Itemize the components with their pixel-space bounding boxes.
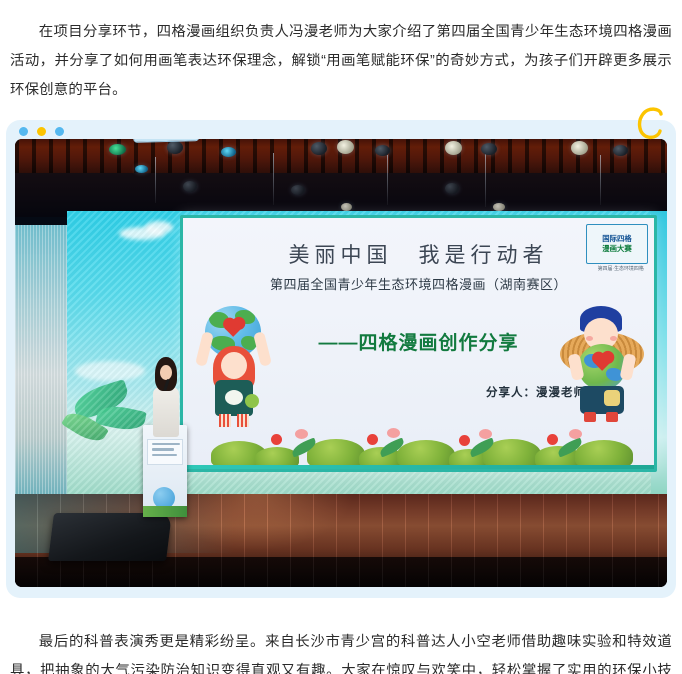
- cloud-graphic: [119, 227, 165, 240]
- stage-light-icon: [445, 141, 462, 155]
- boy-with-globe-illustration: [556, 296, 648, 431]
- stage-light-icon: [481, 143, 497, 155]
- shoe: [584, 412, 596, 422]
- image-card-wrapper: 国际四格 漫画大赛 第四届·生态环境四格 美丽中国 我是行动者 第四届全国青少年…: [6, 120, 676, 598]
- dress-pocket: [225, 390, 243, 405]
- sock: [237, 414, 249, 427]
- slide-title: 美丽中国 我是行动者: [183, 239, 654, 269]
- stage-light-icon: [613, 145, 628, 156]
- slide-baseline: [183, 465, 654, 469]
- speaker-body: [153, 387, 179, 437]
- image-card: 国际四格 漫画大赛 第四届·生态环境四格 美丽中国 我是行动者 第四届全国青少年…: [6, 120, 676, 598]
- rig-line: [600, 155, 601, 205]
- stage-light-icon: [341, 203, 352, 211]
- leaf-graphic: [70, 379, 131, 421]
- stage-light-icon: [135, 165, 148, 173]
- stage-light-icon: [493, 203, 505, 211]
- stage-light-icon: [109, 144, 126, 155]
- leaf-graphic: [95, 402, 147, 433]
- stage-light-icon: [375, 145, 390, 156]
- left-led-panel: [15, 225, 67, 497]
- podium-sign: [147, 439, 183, 465]
- shoe: [606, 412, 618, 422]
- leaf-graphic: [61, 407, 109, 447]
- shorts-patch: [604, 390, 620, 406]
- speaker-person: [147, 357, 185, 435]
- rig-line: [485, 153, 486, 207]
- dot-yellow-icon[interactable]: [37, 127, 46, 136]
- arm: [253, 331, 272, 367]
- sock: [219, 414, 231, 427]
- stage-light-icon: [571, 141, 588, 155]
- article-paragraph-bottom: 最后的科普表演秀更是精彩纷呈。来自长沙市青少宫的科普达人小空老师借助趣味实验和特…: [0, 612, 682, 674]
- speaker-face: [160, 365, 172, 380]
- girl-with-globe-illustration: [191, 306, 283, 431]
- stage-light-icon: [311, 142, 327, 155]
- article-paragraph-top: 在项目分享环节，四格漫画组织负责人冯漫老师为大家介绍了第四届全国青少年生态环境四…: [0, 14, 682, 105]
- podium-grass-graphic: [143, 506, 187, 517]
- rig-line: [273, 153, 274, 205]
- dot-blue-right-icon[interactable]: [55, 127, 64, 136]
- stage-light-icon: [291, 185, 305, 195]
- stage-photo: 国际四格 漫画大赛 第四届·生态环境四格 美丽中国 我是行动者 第四届全国青少年…: [15, 139, 667, 587]
- slide-subtitle: 第四届全国青少年生态环境四格漫画（湖南赛区）: [183, 274, 654, 293]
- dot-blue-left-icon[interactable]: [19, 127, 28, 136]
- hills-decoration: [183, 427, 654, 469]
- globe-graphic: [578, 344, 626, 390]
- stage-light-icon: [183, 181, 197, 192]
- window-controls: [19, 127, 64, 136]
- cloud-graphic: [75, 361, 145, 381]
- rig-line: [155, 157, 156, 203]
- rig-line: [387, 155, 388, 205]
- stage-monitor: [48, 513, 172, 561]
- presentation-slide: 国际四格 漫画大赛 第四届·生态环境四格 美丽中国 我是行动者 第四届全国青少年…: [180, 215, 657, 472]
- cheek: [610, 336, 617, 341]
- page-root: 在项目分享环节，四格漫画组织负责人冯漫老师为大家介绍了第四届全国青少年生态环境四…: [0, 14, 682, 674]
- stage-light-icon: [221, 147, 236, 157]
- cloud-graphic: [145, 221, 173, 234]
- stage-light-icon: [167, 141, 183, 154]
- head: [221, 352, 247, 379]
- cheek: [586, 336, 593, 341]
- stage-light-icon: [445, 183, 459, 194]
- dress-patch: [245, 394, 259, 408]
- c-logo-icon: [634, 104, 668, 144]
- podium: [143, 425, 187, 517]
- stage-light-icon: [337, 140, 354, 154]
